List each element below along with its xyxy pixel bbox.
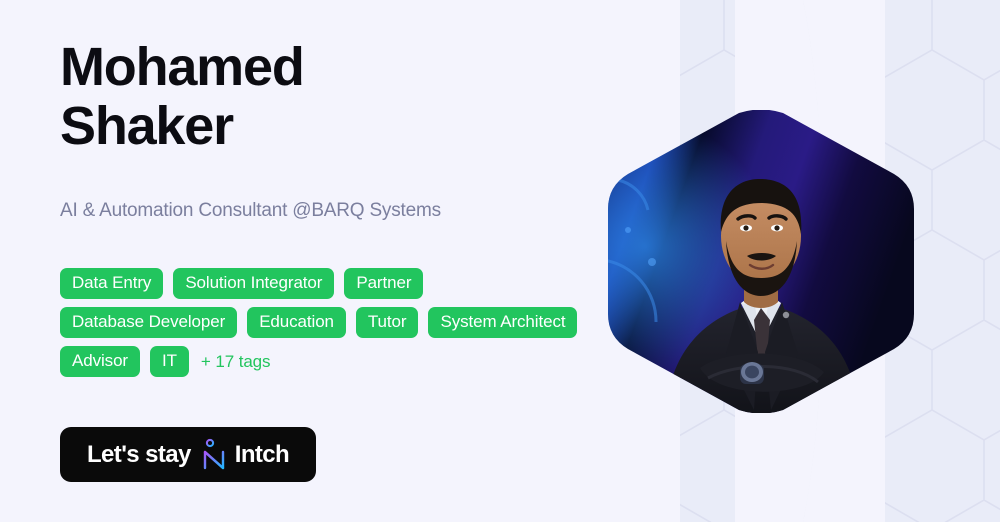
more-tags-label[interactable]: + 17 tags (199, 352, 271, 372)
profile-photo (608, 110, 914, 413)
tag-item[interactable]: IT (150, 346, 189, 377)
tag-item[interactable]: System Architect (428, 307, 577, 338)
tag-item[interactable]: Solution Integrator (173, 268, 334, 299)
profile-card: Mohamed Shaker AI & Automation Consultan… (0, 0, 1000, 522)
profile-headline: AI & Automation Consultant @BARQ Systems (60, 198, 441, 224)
tag-item[interactable]: Partner (344, 268, 423, 299)
cta-brand: Intch (235, 441, 289, 469)
name-line-1: Mohamed (60, 38, 600, 97)
tag-item[interactable]: Advisor (60, 346, 140, 377)
name-line-2: Shaker (60, 97, 600, 156)
tag-item[interactable]: Database Developer (60, 307, 237, 338)
tag-list: Data Entry Solution Integrator Partner D… (60, 268, 600, 377)
intch-logo-icon (201, 438, 227, 472)
page-title: Mohamed Shaker (60, 38, 600, 156)
profile-content: Mohamed Shaker AI & Automation Consultan… (0, 0, 620, 522)
tag-item[interactable]: Tutor (356, 307, 419, 338)
cta-text-before: Let's stay (87, 441, 191, 469)
lets-stay-intch-button[interactable]: Let's stay Intch (60, 427, 316, 482)
tag-item[interactable]: Education (247, 307, 346, 338)
tag-item[interactable]: Data Entry (60, 268, 163, 299)
